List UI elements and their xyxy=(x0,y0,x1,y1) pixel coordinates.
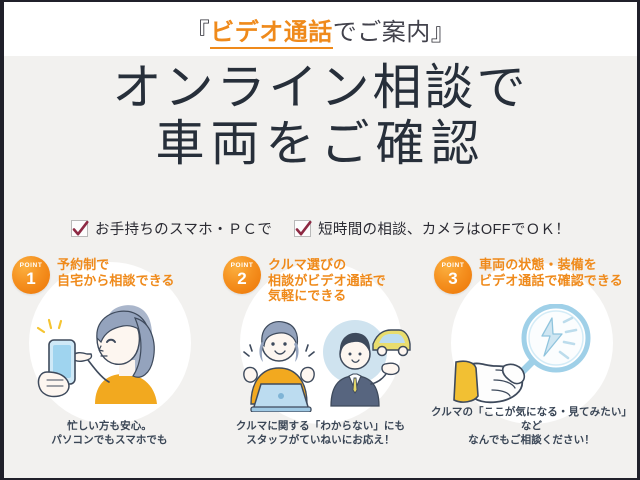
point-badge-number-3: 3 xyxy=(448,270,457,287)
hand-with-magnifying-glass-illustration xyxy=(426,298,637,406)
point-title-3-line-2: ビデオ通話で確認できる xyxy=(479,273,623,289)
point-caption-2-line-1: クルマに関する「わからない」にも xyxy=(215,419,426,433)
check-label-camera: 短時間の相談、カメラはOFFでＯＫ！ xyxy=(318,218,570,239)
point-title-3-line-1: 車両の状態・装備を xyxy=(479,257,623,273)
point-caption-2-line-2: スタッフがていねいにお応え！ xyxy=(215,433,426,447)
point-1-header: POINT 1 予約制で 自宅から相談できる xyxy=(12,256,211,294)
point-title-1: 予約制で 自宅から相談できる xyxy=(57,256,175,288)
point-badge-1: POINT 1 xyxy=(12,256,50,294)
point-2-header: POINT 2 クルマ選びの 相談がビデオ通話で 気軽にできる xyxy=(223,256,422,304)
woman-with-smartphone-illustration xyxy=(4,298,215,406)
point-card-3: POINT 3 車両の状態・装備を ビデオ通話で確認できる xyxy=(426,254,637,449)
checkmark-icon xyxy=(71,220,88,237)
header-close-bracket: 』 xyxy=(431,19,456,46)
check-label-device: お手持ちのスマホ・ＰＣで xyxy=(95,218,272,239)
feature-check-row: お手持ちのスマホ・ＰＣで 短時間の相談、カメラはOFFでＯＫ！ xyxy=(4,218,637,239)
point-card-1: POINT 1 予約制で 自宅から相談できる xyxy=(4,254,215,449)
header-title: 『ビデオ通話でご案内』 xyxy=(186,12,456,47)
point-caption-3-line-2: なんでもご相談ください！ xyxy=(426,433,637,447)
header-band: 『ビデオ通話でご案内』 xyxy=(4,2,637,56)
check-item-device: お手持ちのスマホ・ＰＣで xyxy=(71,218,272,239)
point-title-3: 車両の状態・装備を ビデオ通話で確認できる xyxy=(479,256,623,288)
point-card-2: POINT 2 クルマ選びの 相談がビデオ通話で 気軽にできる xyxy=(215,254,426,449)
point-caption-3: クルマの「ここが気になる・見てみたい」など なんでもご相談ください！ xyxy=(426,405,637,447)
point-caption-1-line-2: パソコンでもスマホでも xyxy=(4,433,215,447)
point-badge-3: POINT 3 xyxy=(434,256,472,294)
promo-banner: 『ビデオ通話でご案内』 オンライン相談で 車両をご確認 お手持ちのスマホ・ＰＣで… xyxy=(0,0,640,480)
point-title-1-line-2: 自宅から相談できる xyxy=(57,273,175,289)
point-caption-3-line-1: クルマの「ここが気になる・見てみたい」など xyxy=(426,405,637,433)
point-caption-2: クルマに関する「わからない」にも スタッフがていねいにお応え！ xyxy=(215,419,426,447)
point-caption-1: 忙しい方も安心。 パソコンでもスマホでも xyxy=(4,419,215,447)
point-badge-2: POINT 2 xyxy=(223,256,261,294)
point-title-1-line-1: 予約制で xyxy=(57,257,175,273)
header-highlight: ビデオ通話 xyxy=(210,19,333,49)
point-title-2: クルマ選びの 相談がビデオ通話で 気軽にできる xyxy=(268,256,386,304)
point-title-2-line-3: 気軽にできる xyxy=(268,288,386,304)
points-row: POINT 1 予約制で 自宅から相談できる xyxy=(4,254,637,449)
point-title-2-line-2: 相談がビデオ通話で xyxy=(268,273,386,289)
headline: オンライン相談で 車両をご確認 xyxy=(4,60,637,172)
header-open-bracket: 『 xyxy=(186,19,211,46)
headline-line-1: オンライン相談で xyxy=(4,60,637,116)
point-title-2-line-1: クルマ選びの xyxy=(268,257,386,273)
point-caption-1-line-1: 忙しい方も安心。 xyxy=(4,419,215,433)
point-3-header: POINT 3 車両の状態・装備を ビデオ通話で確認できる xyxy=(434,256,633,294)
point-badge-number-2: 2 xyxy=(237,270,246,287)
check-item-camera: 短時間の相談、カメラはOFFでＯＫ！ xyxy=(294,218,570,239)
woman-laptop-and-staff-with-car-illustration xyxy=(215,298,426,406)
headline-line-2: 車両をご確認 xyxy=(4,116,637,172)
header-tail: でご案内 xyxy=(333,19,431,46)
point-badge-number-1: 1 xyxy=(26,270,35,287)
checkmark-icon xyxy=(294,220,311,237)
